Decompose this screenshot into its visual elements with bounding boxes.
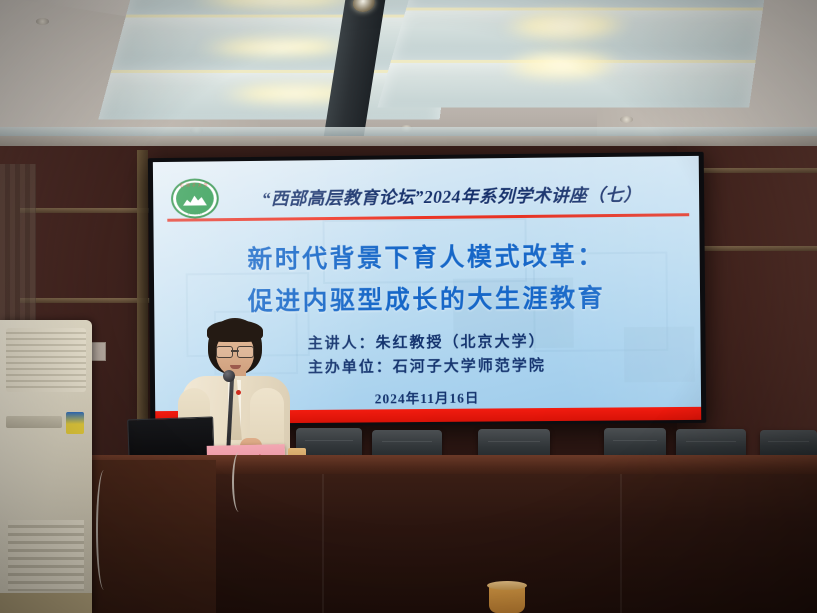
glasses-icon	[216, 346, 254, 356]
emblem-top-text: 石河子大学	[178, 180, 212, 189]
slide-header: 石河子大学 SHIHEZI UNIVERSITY “西部高层教育论坛”2024年…	[171, 172, 685, 220]
slide-main-title: 新时代背景下育人模式改革： 促进内驱型成长的大生涯教育	[154, 234, 701, 323]
cup-rim	[487, 581, 527, 590]
podium-seam	[322, 474, 324, 613]
ac-energy-label	[66, 412, 84, 434]
presenter-badge	[236, 390, 241, 395]
screen-mount-bracket	[137, 150, 148, 436]
floor-paper-cup[interactable]	[489, 585, 525, 613]
ceiling: 束改式模工人育	[0, 0, 817, 152]
emblem-bottom-text: SHIHEZI UNIVERSITY	[177, 210, 213, 217]
ac-top-grill	[6, 328, 86, 392]
ceiling-light-well-right: 束改式模工人育	[377, 0, 770, 107]
microphone-cable	[232, 452, 246, 512]
podium-seam	[620, 474, 622, 613]
ac-vent	[6, 416, 62, 428]
power-cable	[96, 470, 112, 590]
ceiling-cove	[0, 127, 817, 136]
slide-title-line-1: 新时代背景下育人模式改革：	[154, 234, 700, 281]
air-conditioner[interactable]	[0, 320, 92, 613]
presenter-bangs	[207, 320, 263, 342]
university-emblem-icon: 石河子大学 SHIHEZI UNIVERSITY	[171, 177, 219, 219]
recessed-spotlight-icon	[351, 0, 376, 12]
slide-header-title: “西部高层教育论坛”2024年系列学术讲座（七）	[219, 181, 685, 211]
ac-lower-grill	[8, 520, 84, 591]
microphone-icon	[223, 370, 235, 382]
ac-base	[0, 593, 92, 613]
downlight-icon	[620, 116, 633, 123]
lecture-hall-photo: 束改式模工人育	[0, 0, 817, 613]
slide-title-line-2: 促进内驱型成长的大生涯教育	[154, 276, 700, 323]
downlight-icon	[36, 18, 49, 25]
